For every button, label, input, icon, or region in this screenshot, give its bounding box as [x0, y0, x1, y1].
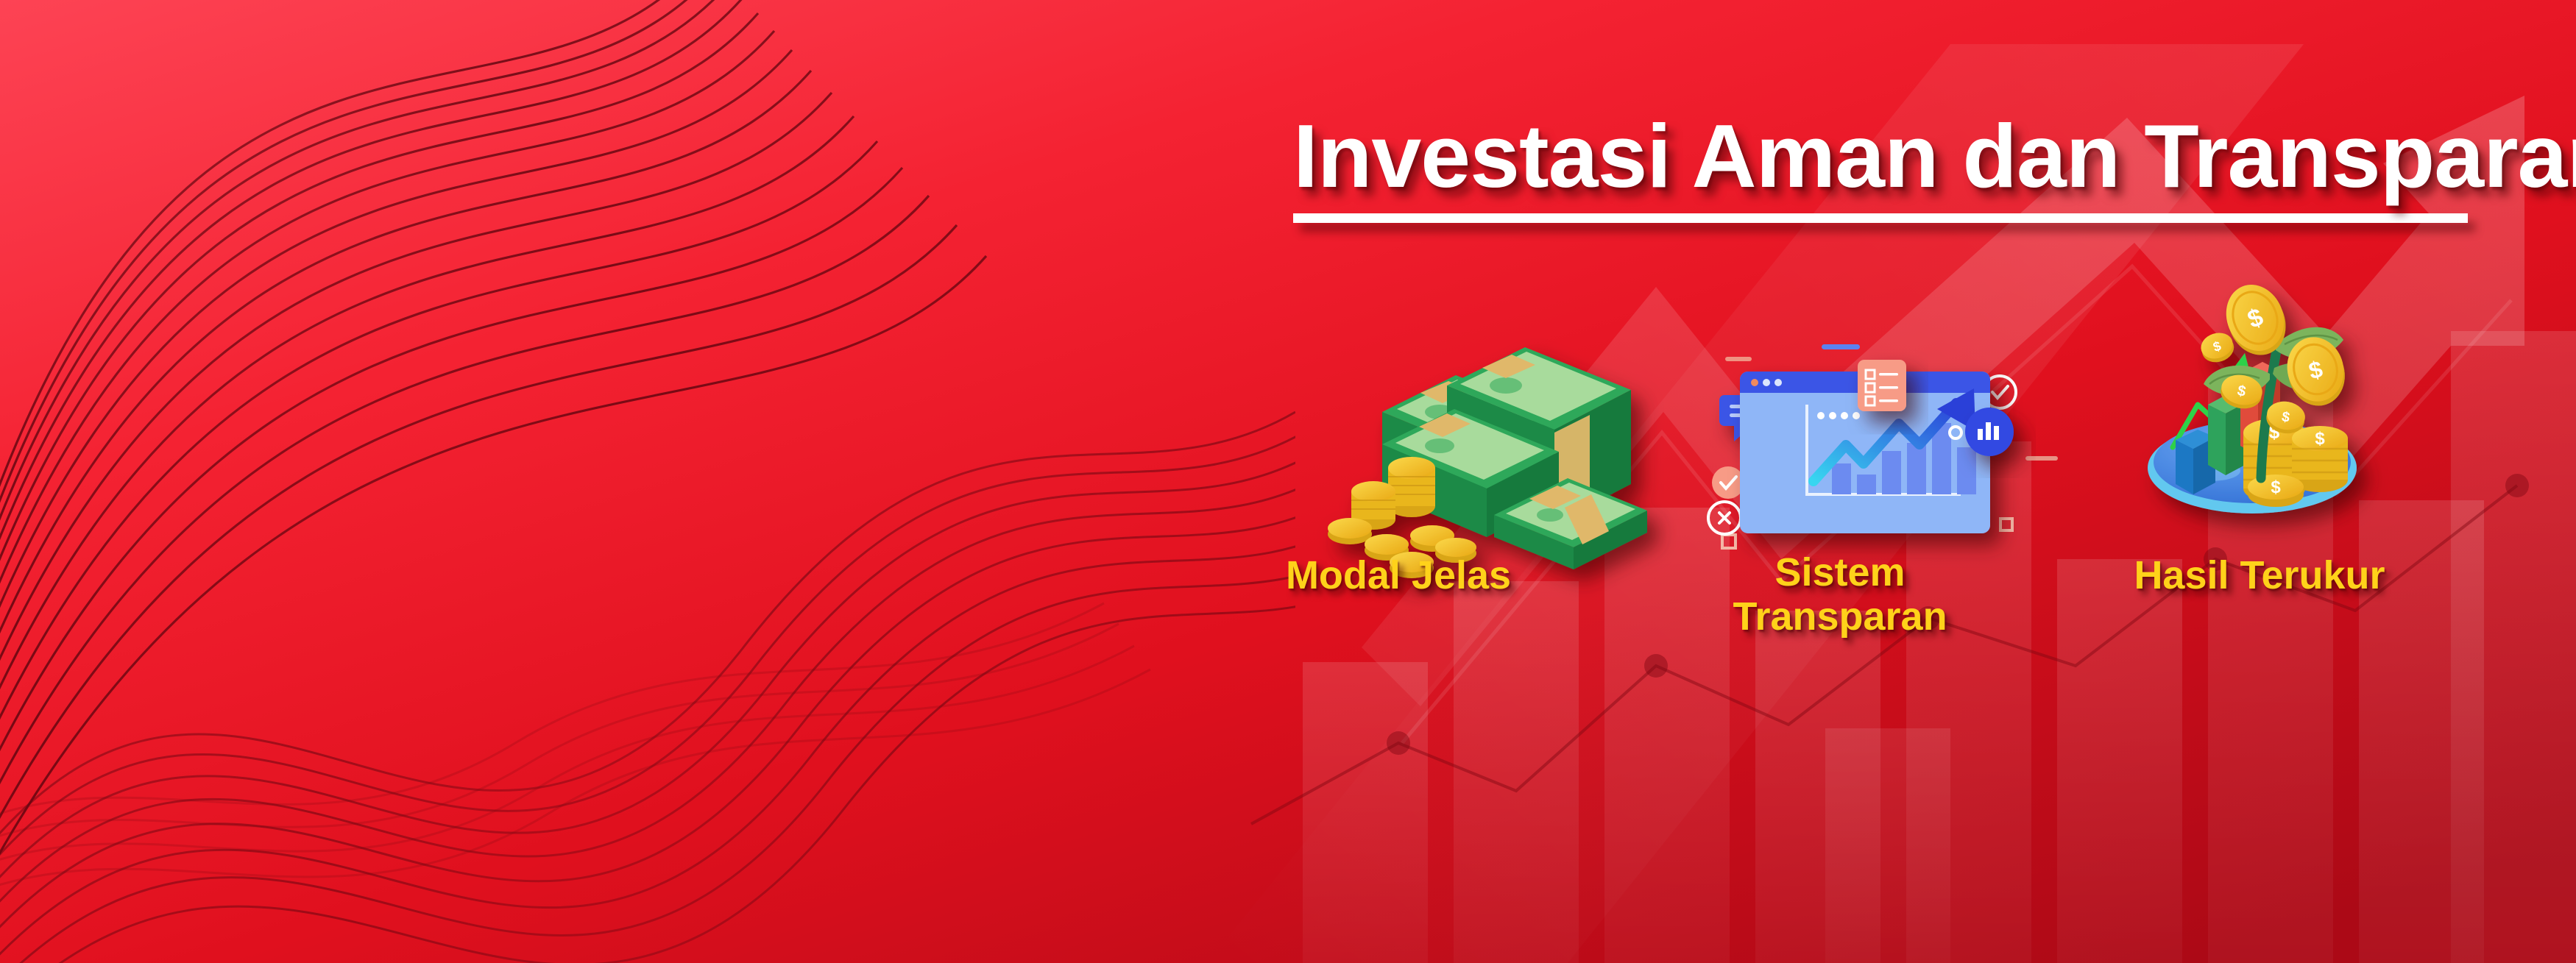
headline-block: Investasi Aman dan Transparan	[1293, 110, 2471, 223]
money-stack-icon	[1328, 347, 1647, 578]
svg-text:$: $	[2271, 477, 2281, 497]
page-title: Investasi Aman dan Transparan	[1293, 110, 2471, 202]
checklist-card-icon	[1858, 360, 1906, 411]
feature-label: Modal Jelas	[1244, 553, 1553, 597]
svg-text:$: $	[2315, 429, 2325, 449]
globe-coin-stack-front: $	[2248, 475, 2304, 507]
hero-banner: $ $ $	[0, 0, 2576, 963]
bar-chart-badge-icon	[1965, 408, 2014, 456]
feature-sistem-transparan[interactable]: Sistem Transparan	[1685, 550, 1995, 639]
feature-label: Sistem Transparan	[1685, 550, 1995, 639]
feature-label: Hasil Terukur	[2090, 553, 2429, 597]
feature-hasil-terukur[interactable]: Hasil Terukur	[2090, 553, 2429, 597]
globe-growth-icon: $ $ $	[2148, 276, 2357, 514]
dashboard-chart-icon	[1708, 344, 2058, 548]
feature-modal-jelas[interactable]: Modal Jelas	[1244, 553, 1553, 597]
coin-stack-tall	[1351, 457, 1435, 530]
headline-underline	[1293, 213, 2468, 223]
